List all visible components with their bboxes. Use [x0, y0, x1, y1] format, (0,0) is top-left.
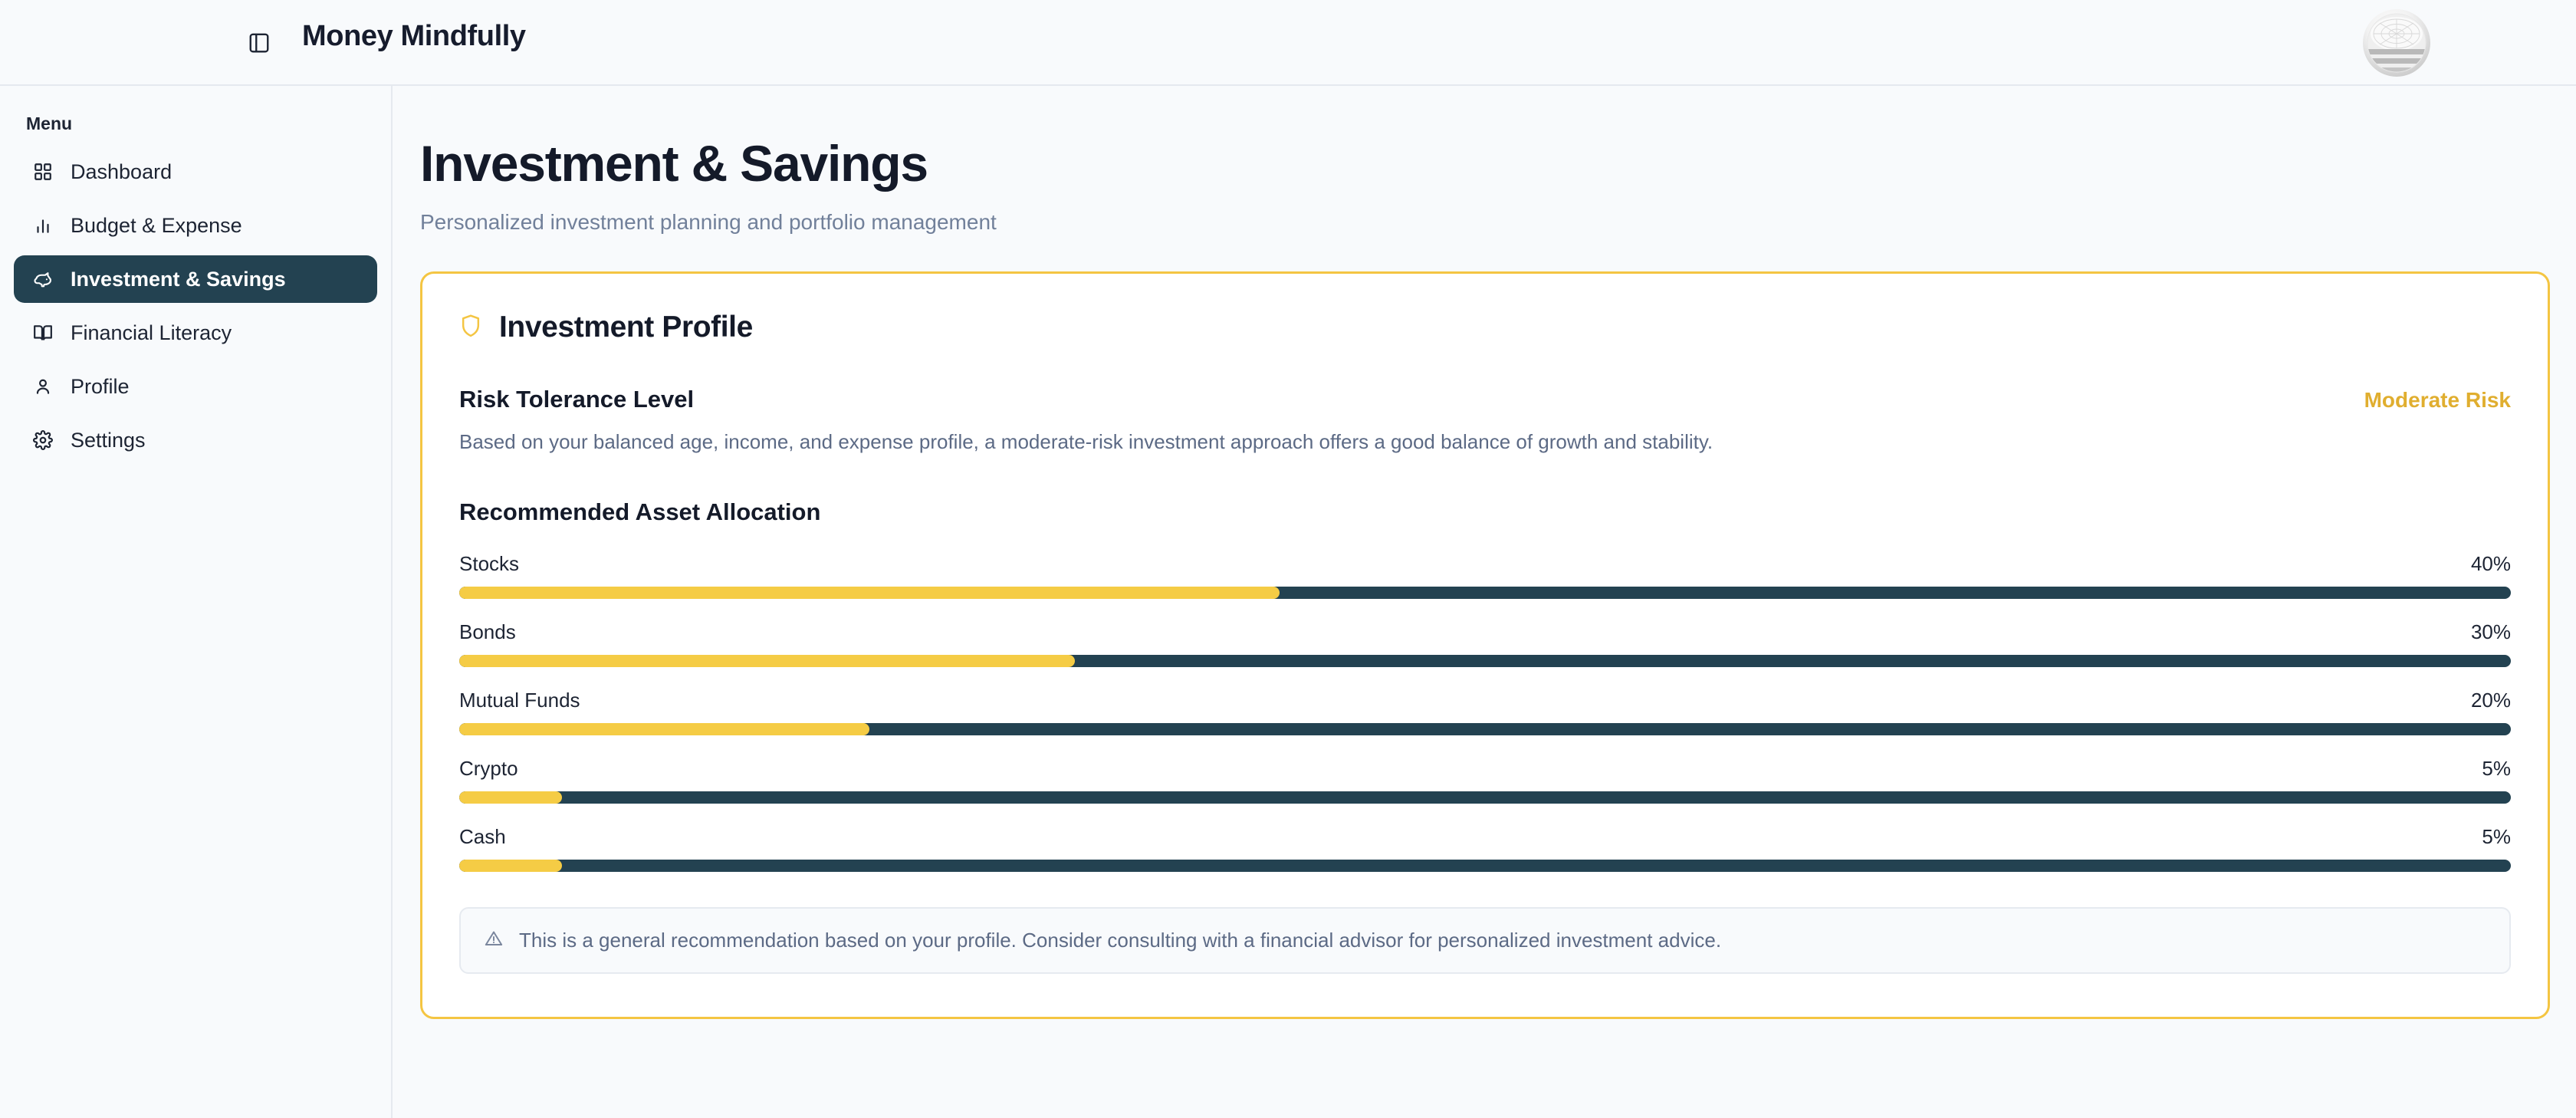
allocation-progress-fill — [459, 587, 1280, 599]
sidebar: Menu Dashboard Budget & Expense — [0, 86, 393, 1118]
allocation-row: Cash 5% — [459, 825, 2511, 872]
gear-icon — [29, 426, 57, 454]
allocation-progress-track — [459, 723, 2511, 735]
investment-profile-card: Investment Profile Risk Tolerance Level … — [420, 271, 2550, 1019]
avatar[interactable] — [2363, 9, 2430, 77]
allocation-row: Stocks 40% — [459, 552, 2511, 599]
main-content: Investment & Savings Personalized invest… — [393, 86, 2576, 1118]
allocation-progress-fill — [459, 860, 562, 872]
risk-tolerance-row: Risk Tolerance Level Moderate Risk — [459, 386, 2511, 413]
book-open-icon — [29, 319, 57, 347]
allocation-progress-track — [459, 587, 2511, 599]
sidebar-item-label: Settings — [71, 429, 146, 452]
allocation-progress-track — [459, 791, 2511, 804]
sidebar-item-label: Investment & Savings — [71, 268, 286, 291]
card-header: Investment Profile — [459, 311, 2511, 344]
sidebar-item-dashboard[interactable]: Dashboard — [14, 148, 377, 196]
sidebar-item-label: Financial Literacy — [71, 321, 232, 345]
risk-level-badge: Moderate Risk — [2364, 388, 2511, 413]
sidebar-toggle-button[interactable] — [244, 28, 274, 58]
user-icon — [29, 373, 57, 400]
allocation-percent: 20% — [2471, 689, 2511, 712]
allocation-row: Bonds 30% — [459, 620, 2511, 667]
allocation-label: Mutual Funds — [459, 689, 580, 712]
piggy-bank-icon — [29, 265, 57, 293]
allocation-percent: 5% — [2482, 757, 2511, 781]
allocation-percent: 40% — [2471, 552, 2511, 576]
sidebar-item-settings[interactable]: Settings — [14, 416, 377, 464]
disclaimer-text: This is a general recommendation based o… — [519, 929, 1721, 952]
sidebar-item-label: Profile — [71, 375, 130, 399]
alert-triangle-icon — [484, 929, 504, 952]
sidebar-toggle-icon — [248, 31, 271, 54]
app-title: Money Mindfully — [302, 20, 526, 53]
allocation-row: Mutual Funds 20% — [459, 689, 2511, 735]
risk-tolerance-heading: Risk Tolerance Level — [459, 386, 694, 413]
allocation-percent: 5% — [2482, 825, 2511, 849]
page-title: Investment & Savings — [420, 138, 2521, 189]
card-title: Investment Profile — [499, 311, 753, 344]
top-bar: Money Mindfully — [0, 0, 2576, 86]
allocation-label: Crypto — [459, 757, 518, 781]
allocation-row: Crypto 5% — [459, 757, 2511, 804]
allocation-label: Bonds — [459, 620, 516, 644]
sidebar-item-budget-expense[interactable]: Budget & Expense — [14, 202, 377, 249]
bar-chart-icon — [29, 212, 57, 239]
allocation-percent: 30% — [2471, 620, 2511, 644]
allocation-heading: Recommended Asset Allocation — [459, 498, 2511, 526]
allocation-label: Stocks — [459, 552, 519, 576]
sidebar-item-profile[interactable]: Profile — [14, 363, 377, 410]
allocation-progress-track — [459, 860, 2511, 872]
sidebar-section-label: Menu — [26, 113, 391, 134]
allocation-label: Cash — [459, 825, 506, 849]
sidebar-item-financial-literacy[interactable]: Financial Literacy — [14, 309, 377, 357]
sidebar-item-label: Budget & Expense — [71, 214, 242, 238]
disclaimer-note: This is a general recommendation based o… — [459, 907, 2511, 974]
allocation-progress-track — [459, 655, 2511, 667]
sidebar-item-label: Dashboard — [71, 160, 172, 184]
allocation-progress-fill — [459, 723, 869, 735]
shield-icon — [459, 314, 482, 342]
risk-description: Based on your balanced age, income, and … — [459, 430, 2511, 454]
allocation-list: Stocks 40% Bonds 30% Mutual Funds — [459, 552, 2511, 872]
sidebar-item-investment-savings[interactable]: Investment & Savings — [14, 255, 377, 303]
allocation-progress-fill — [459, 655, 1075, 667]
user-avatar-image — [2366, 12, 2427, 74]
layout-grid-icon — [29, 158, 57, 186]
page-subtitle: Personalized investment planning and por… — [420, 210, 2521, 235]
allocation-progress-fill — [459, 791, 562, 804]
